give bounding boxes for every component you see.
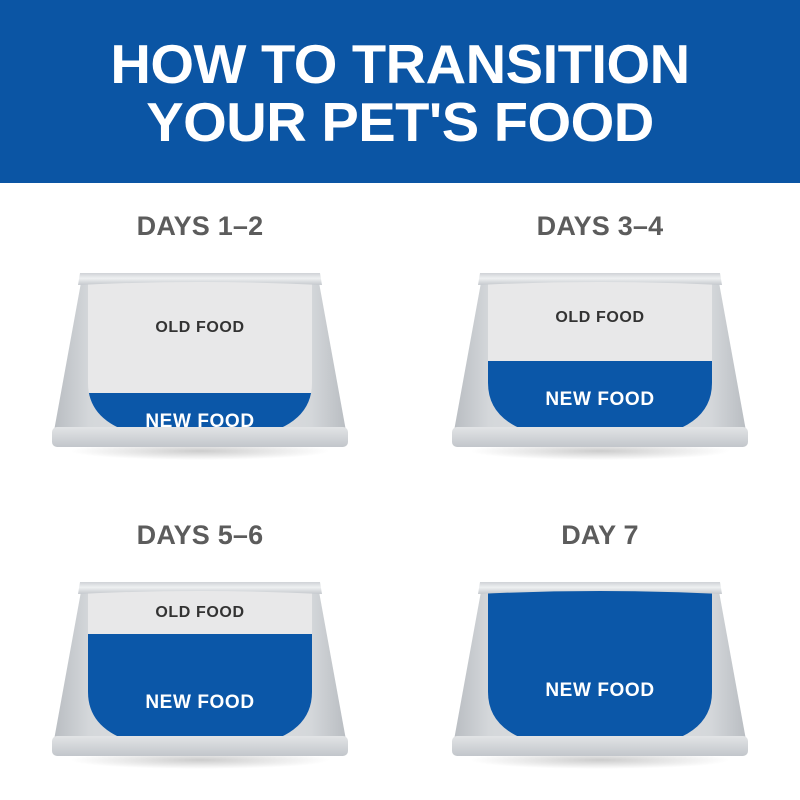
step-label-days-5-6: DAYS 5–6 (137, 520, 264, 551)
food-bowl-days-5-6: OLD FOOD NEW FOOD (40, 572, 360, 772)
transition-steps-grid: DAYS 1–2 (0, 183, 800, 800)
step-label-days-1-2: DAYS 1–2 (137, 211, 264, 242)
bowl-foot (452, 427, 748, 447)
step-day-7: DAY 7 (400, 492, 800, 800)
bowl-foot (452, 736, 748, 756)
food-bowl-day-7: NEW FOOD (440, 572, 760, 772)
food-bowl-days-3-4: OLD FOOD NEW FOOD (440, 263, 760, 463)
step-label-days-3-4: DAYS 3–4 (537, 211, 664, 242)
page-title: HOW TO TRANSITION YOUR PET'S FOOD (110, 32, 689, 150)
bowl-foot (52, 427, 348, 447)
step-days-3-4: DAYS 3–4 (400, 183, 800, 492)
bowl-illustration (40, 572, 360, 772)
step-days-5-6: DAYS 5–6 (0, 492, 400, 800)
bowl-foot (52, 736, 348, 756)
step-days-1-2: DAYS 1–2 (0, 183, 400, 492)
bowl-illustration (40, 263, 360, 463)
bowl-illustration (440, 572, 760, 772)
food-bowl-days-1-2: OLD FOOD NEW FOOD (40, 263, 360, 463)
step-label-day-7: DAY 7 (561, 520, 639, 551)
header-banner: HOW TO TRANSITION YOUR PET'S FOOD (0, 0, 800, 183)
bowl-illustration (440, 263, 760, 463)
